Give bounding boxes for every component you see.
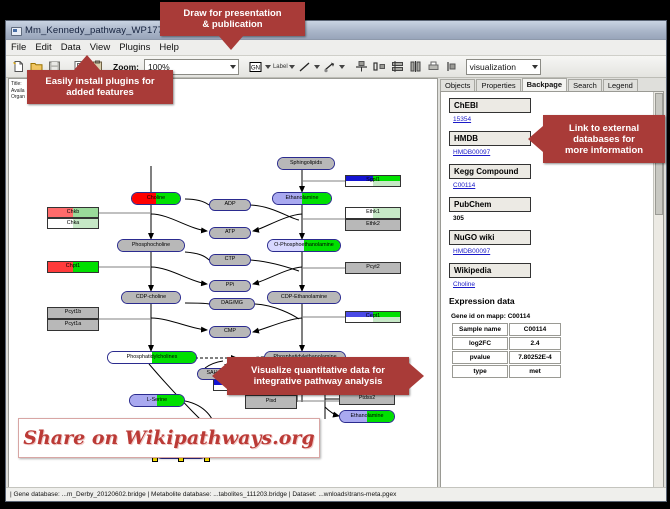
- node-label: Choline: [147, 196, 165, 201]
- order-icon[interactable]: [444, 59, 460, 75]
- node-label: CMP: [224, 329, 236, 334]
- expression-data-header: Expression data: [449, 296, 663, 306]
- chevron-down-icon: [265, 65, 271, 69]
- metabolite-node-adp[interactable]: ADP: [209, 199, 251, 211]
- gene-node-pcyt1b[interactable]: Pcyt1b: [47, 307, 99, 319]
- node-label: Pisd: [266, 399, 277, 404]
- chevron-down-icon: [230, 65, 236, 69]
- visualization-value: visualization: [470, 62, 516, 72]
- node-label: CTP: [225, 257, 236, 262]
- expression-table: Sample nameC00114log2FC2.4pvalue7.80252E…: [451, 322, 562, 379]
- expr-key: pvalue: [452, 351, 508, 364]
- node-label: DAG/MG: [221, 301, 243, 306]
- gene-node-cept1[interactable]: Cept1: [345, 311, 401, 323]
- node-label: Pcyt1b: [65, 310, 81, 315]
- callout-visualize-line2: integrative pathway analysis: [254, 376, 383, 387]
- arrow-icon[interactable]: [322, 59, 338, 75]
- table-row: log2FC2.4: [452, 337, 561, 350]
- expr-key: type: [452, 365, 508, 378]
- expr-value: met: [509, 365, 561, 378]
- node-label: CDP-Ethanolamine: [281, 295, 327, 300]
- status-bar: | Gene database: ...m_Derby_20120602.bri…: [6, 487, 666, 501]
- expr-value: 7.80252E-4: [509, 351, 561, 364]
- db-header-hmdb: HMDB: [449, 131, 531, 146]
- metabolite-node-dag-mg[interactable]: DAG/MG: [209, 298, 255, 310]
- callout-draw-line2: & publication: [202, 19, 262, 30]
- menu-item-plugins[interactable]: Plugins: [119, 42, 150, 53]
- side-panel-tabs: ObjectsPropertiesBackpageSearchLegend: [440, 78, 664, 91]
- node-label: ATP: [225, 230, 235, 235]
- db-header-nugo-wiki: NuGO wiki: [449, 230, 531, 245]
- node-label: Chpt1: [66, 264, 80, 269]
- callout-link-pointer: [528, 126, 543, 152]
- stack-icon[interactable]: [390, 59, 406, 75]
- gene-id-line: Gene id on mapp: C00114: [451, 313, 663, 320]
- node-label: Pcyt1a: [65, 322, 81, 327]
- callout-plugins-line2: added features: [66, 87, 134, 98]
- datanode-tool[interactable]: GN: [248, 59, 271, 75]
- expr-value: C00114: [509, 323, 561, 336]
- callout-link-line2: databases for: [573, 134, 635, 145]
- expr-key: log2FC: [452, 337, 508, 350]
- metabolite-node-phosphatidylcholines[interactable]: Phosphatidylcholines: [107, 351, 197, 364]
- table-row: Sample nameC00114: [452, 323, 561, 336]
- tab-legend[interactable]: Legend: [603, 79, 638, 91]
- metabolite-node-sphingolipids[interactable]: Sphingolipids: [277, 157, 335, 170]
- callout-visualize-pointer-right: [409, 363, 424, 389]
- db-value-nugo-wiki[interactable]: HMDB00097: [453, 248, 663, 255]
- node-label: CDP-choline: [136, 295, 166, 300]
- line-tool[interactable]: [297, 59, 320, 75]
- db-value-kegg-compound[interactable]: C00114: [453, 182, 663, 189]
- label-tool[interactable]: Label: [273, 64, 295, 70]
- callout-link: Link to external databases for more info…: [543, 115, 665, 163]
- db-value-wikipedia[interactable]: Choline: [453, 281, 663, 288]
- node-label: Ethk2: [366, 222, 380, 227]
- db-value-pubchem: 305: [453, 215, 663, 222]
- chevron-down-icon: [339, 65, 345, 69]
- node-label: Chka: [67, 221, 80, 226]
- gene-node-pcyt2[interactable]: Pcyt2: [345, 262, 401, 274]
- app-icon: [10, 25, 21, 36]
- node-label: Sphingolipids: [290, 161, 322, 166]
- node-label: Chkb: [67, 210, 80, 215]
- node-label: PPi: [226, 283, 234, 288]
- gene-node-ethk1[interactable]: Ethk1: [345, 207, 401, 219]
- tab-properties[interactable]: Properties: [476, 79, 520, 91]
- datanode-icon[interactable]: GN: [248, 59, 264, 75]
- menu-item-edit[interactable]: Edit: [35, 42, 51, 53]
- menu-item-view[interactable]: View: [90, 42, 110, 53]
- chevron-down-icon: [532, 65, 538, 69]
- svg-text:GN: GN: [251, 65, 260, 71]
- interaction-tool[interactable]: [322, 59, 345, 75]
- callout-link-line3: more information: [565, 145, 643, 156]
- metabolite-node-ethanolamine[interactable]: Ethanolamine: [339, 410, 395, 423]
- node-label: L-Serine: [147, 398, 167, 403]
- node-label: Sgpl1: [366, 178, 380, 183]
- db-header-wikipedia: Wikipedia: [449, 263, 531, 278]
- menu-item-help[interactable]: Help: [159, 42, 179, 53]
- callout-plugins-line1: Easily install plugins for: [45, 76, 154, 87]
- callout-share: Share on Wikipathways.org: [18, 418, 320, 458]
- status-text: | Gene database: ...m_Derby_20120602.bri…: [10, 491, 396, 498]
- tab-backpage[interactable]: Backpage: [522, 78, 567, 91]
- node-label: Ethanolamine: [286, 196, 319, 201]
- db-header-chebi: ChEBI: [449, 98, 531, 113]
- line-icon[interactable]: [297, 59, 313, 75]
- callout-share-text: Share on Wikipathways.org: [23, 427, 314, 449]
- db-header-kegg-compound: Kegg Compound: [449, 164, 531, 179]
- callout-visualize-pointer-left: [212, 363, 227, 389]
- title-bar: Mm_Kennedy_pathway_WP1771_45176.gpml: [6, 21, 666, 40]
- callout-draw-line1: Draw for presentation: [183, 8, 281, 19]
- metabolite-node-ctp[interactable]: CTP: [209, 254, 251, 266]
- print-icon[interactable]: [426, 59, 442, 75]
- chevron-down-icon: [289, 65, 295, 69]
- callout-plugins-pointer: [74, 55, 100, 70]
- metabolite-node-cmp[interactable]: CMP: [209, 326, 251, 338]
- metabolite-node-o-phosphoethanolamine[interactable]: O-Phosphoethanolamine: [267, 239, 341, 252]
- callout-visualize-line1: Visualize quantitative data for: [251, 365, 385, 376]
- metabolite-node-ethanolamine[interactable]: Ethanolamine: [272, 192, 332, 205]
- node-label: ADP: [224, 202, 235, 207]
- expr-value: 2.4: [509, 337, 561, 350]
- metabolite-node-choline[interactable]: Choline: [131, 192, 181, 205]
- gene-node-pisd[interactable]: Pisd: [245, 395, 297, 409]
- node-label: O-Phosphoethanolamine: [274, 243, 334, 248]
- gene-node-chkb[interactable]: Chkb: [47, 207, 99, 218]
- node-label: Ethk1: [366, 210, 380, 215]
- table-row: pvalue7.80252E-4: [452, 351, 561, 364]
- chevron-down-icon: [314, 65, 320, 69]
- node-label: Pcyt2: [366, 265, 379, 270]
- table-row: typemet: [452, 365, 561, 378]
- db-header-pubchem: PubChem: [449, 197, 531, 212]
- callout-link-line1: Link to external: [569, 123, 639, 134]
- gene-node-pcyt1a[interactable]: Pcyt1a: [47, 319, 99, 331]
- visualization-combo[interactable]: visualization: [466, 59, 541, 75]
- callout-visualize: Visualize quantitative data for integrat…: [227, 357, 409, 395]
- metabolite-node-ppi[interactable]: PPi: [209, 280, 251, 292]
- menu-item-data[interactable]: Data: [61, 42, 81, 53]
- metabolite-node-cdp-choline[interactable]: CDP-choline: [121, 291, 181, 304]
- menu-item-file[interactable]: File: [11, 42, 26, 53]
- label-tool-text: Label: [273, 64, 288, 70]
- node-label: Cept1: [366, 314, 380, 319]
- gene-node-chka[interactable]: Chka: [47, 218, 99, 229]
- new-icon[interactable]: [10, 59, 26, 75]
- menu-bar: File Edit Data View Plugins Help: [6, 40, 666, 56]
- callout-draw: Draw for presentation & publication: [160, 2, 305, 36]
- node-label: Ptdss2: [359, 396, 375, 401]
- metabolite-node-cdp-ethanolamine[interactable]: CDP-Ethanolamine: [267, 291, 341, 304]
- gene-node-ethk2[interactable]: Ethk2: [345, 219, 401, 231]
- width-icon[interactable]: [408, 59, 424, 75]
- group-icon[interactable]: [372, 59, 388, 75]
- metabolite-node-l-serine[interactable]: L-Serine: [129, 394, 185, 407]
- screenshot-root: Mm_Kennedy_pathway_WP1771_45176.gpml Fil…: [0, 0, 670, 509]
- node-label: Phosphatidylcholines: [127, 355, 178, 360]
- callout-plugins: Easily install plugins for added feature…: [27, 70, 173, 104]
- gene-node-chpt1[interactable]: Chpt1: [47, 261, 99, 273]
- metabolite-node-atp[interactable]: ATP: [209, 227, 251, 239]
- callout-draw-pointer: [218, 35, 244, 50]
- gene-node-sgpl1[interactable]: Sgpl1: [345, 175, 401, 187]
- expr-key: Sample name: [452, 323, 508, 336]
- node-label: Ethanolamine: [351, 414, 384, 419]
- tab-objects[interactable]: Objects: [440, 79, 475, 91]
- metabolite-node-phosphocholine[interactable]: Phosphocholine: [117, 239, 185, 252]
- align-icon[interactable]: [354, 59, 370, 75]
- node-label: Phosphocholine: [132, 243, 170, 248]
- tab-search[interactable]: Search: [568, 79, 602, 91]
